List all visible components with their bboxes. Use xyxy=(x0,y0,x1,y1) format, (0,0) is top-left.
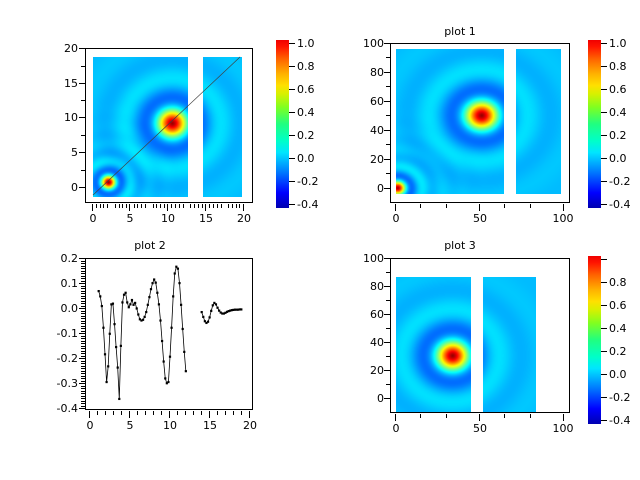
ytick-label: -0.4 xyxy=(40,403,78,414)
xtick-label: 10 xyxy=(157,420,183,431)
ytick-minor xyxy=(81,403,85,404)
cbtick xyxy=(289,66,295,67)
ytick xyxy=(79,358,85,359)
cbtick xyxy=(601,374,607,375)
cbtick-label: 0.2 xyxy=(609,346,627,357)
ytick-minor xyxy=(81,346,85,347)
ytick-minor xyxy=(386,356,390,357)
overlay-diagonal-line xyxy=(86,49,252,202)
xtick xyxy=(129,411,130,418)
data-point-marker xyxy=(120,345,122,347)
data-point-marker xyxy=(113,323,115,325)
ytick-minor xyxy=(81,336,85,337)
xtick-minor xyxy=(420,204,421,208)
cbtick xyxy=(601,181,607,182)
xtick-minor xyxy=(185,411,186,415)
ytick-label: -0.2 xyxy=(40,353,78,364)
xtick-minor xyxy=(119,204,120,208)
cbtick xyxy=(601,43,607,44)
data-point-marker xyxy=(150,288,152,290)
ytick xyxy=(79,187,85,188)
xtick xyxy=(563,204,564,211)
data-point-marker xyxy=(215,303,217,305)
heatmap-canvas xyxy=(396,277,471,413)
cbtick-label: 0.2 xyxy=(297,130,315,141)
ytick-minor xyxy=(81,298,85,299)
cbtick-label: -0.4 xyxy=(297,199,318,210)
data-point-marker xyxy=(144,316,146,318)
cbtick-label: 0.6 xyxy=(297,84,315,95)
ytick xyxy=(79,117,85,118)
xtick-label: 50 xyxy=(463,213,497,224)
ytick-minor xyxy=(81,288,85,289)
xtick xyxy=(129,204,130,211)
cbtick-label: -0.2 xyxy=(609,392,630,403)
xtick-minor xyxy=(126,204,127,208)
xtick-minor xyxy=(217,204,218,208)
ytick-minor xyxy=(81,135,85,136)
ytick-label: 60 xyxy=(346,96,384,107)
heatmap-canvas xyxy=(396,49,504,194)
ytick-minor xyxy=(81,391,85,392)
data-point-marker xyxy=(174,272,176,274)
ytick-minor xyxy=(81,393,85,394)
data-point-marker xyxy=(240,308,242,310)
xtick-minor xyxy=(171,204,172,208)
cbtick-label: -0.4 xyxy=(609,415,630,426)
heatmap-image-a xyxy=(396,49,504,194)
xtick-minor xyxy=(190,204,191,208)
ytick-label: 0.2 xyxy=(40,253,78,264)
ytick-minor xyxy=(81,266,85,267)
ytick-minor xyxy=(386,272,390,273)
ytick-minor xyxy=(386,173,390,174)
xtick-minor xyxy=(175,204,176,208)
xtick xyxy=(243,204,244,211)
ytick xyxy=(384,314,390,315)
ytick xyxy=(79,283,85,284)
ytick-minor xyxy=(81,343,85,344)
data-point-marker xyxy=(112,303,114,305)
ytick-minor xyxy=(81,356,85,357)
axes-bottom-left xyxy=(85,258,253,410)
xtick-label: 5 xyxy=(117,420,143,431)
ytick-minor xyxy=(81,301,85,302)
xtick-minor xyxy=(153,411,154,415)
ytick-label: 0 xyxy=(50,182,78,193)
data-point-marker xyxy=(177,268,179,270)
ytick-minor xyxy=(81,396,85,397)
cbtick xyxy=(601,66,607,67)
xtick xyxy=(479,414,480,421)
xtick-minor xyxy=(217,411,218,415)
xtick-minor xyxy=(97,411,98,415)
xtick xyxy=(167,204,168,211)
xtick-minor xyxy=(194,204,195,208)
cbtick xyxy=(601,305,607,306)
ytick-minor xyxy=(81,323,85,324)
ytick-minor xyxy=(81,381,85,382)
ytick-label: 100 xyxy=(346,253,384,264)
line-series-svg xyxy=(86,259,253,410)
xtick-minor xyxy=(236,204,237,208)
xtick-minor xyxy=(232,204,233,208)
ytick-label: -0.3 xyxy=(40,378,78,389)
xtick-minor xyxy=(241,411,242,415)
colorbar-top-right xyxy=(588,40,601,208)
data-point-marker xyxy=(115,346,117,348)
data-point-marker xyxy=(153,278,155,280)
data-point-marker xyxy=(212,304,214,306)
ytick xyxy=(384,398,390,399)
cbtick xyxy=(601,328,607,329)
cbtick xyxy=(289,43,295,44)
cbtick xyxy=(289,204,295,205)
ytick-minor xyxy=(81,341,85,342)
data-point-marker xyxy=(125,292,127,294)
ytick-minor xyxy=(81,303,85,304)
line-path xyxy=(99,267,186,399)
data-point-marker xyxy=(98,290,100,292)
xtick-minor xyxy=(100,204,101,208)
xtick-minor xyxy=(164,204,165,208)
xtick-label: 100 xyxy=(544,213,582,224)
ytick xyxy=(384,43,390,44)
data-point-marker xyxy=(170,327,172,329)
xtick-label: 100 xyxy=(544,423,582,434)
data-point-marker xyxy=(147,304,149,306)
data-point-marker xyxy=(123,294,125,296)
data-point-marker xyxy=(117,366,119,368)
data-point-marker xyxy=(134,302,136,304)
ytick-label: 0.1 xyxy=(40,278,78,289)
ytick-minor xyxy=(81,286,85,287)
ytick xyxy=(384,72,390,73)
cbtick-label: 0.6 xyxy=(609,300,627,311)
cbtick xyxy=(289,135,295,136)
heatmap-canvas xyxy=(483,277,536,413)
ytick-minor xyxy=(81,378,85,379)
xtick-minor xyxy=(446,204,447,208)
xtick-minor xyxy=(193,411,194,415)
xtick-minor xyxy=(137,411,138,415)
xtick-minor xyxy=(225,411,226,415)
data-point-marker xyxy=(169,356,171,358)
ytick-minor xyxy=(81,376,85,377)
ytick-label: 40 xyxy=(346,125,384,136)
panel-bottom-left: plot 2 0.2 0.1 0.0 -0.1 -0.2 -0.3 -0.4 0 xyxy=(0,240,320,480)
ytick-minor xyxy=(81,296,85,297)
cbtick-label: 0.4 xyxy=(609,107,627,118)
cbtick-label: 0.0 xyxy=(609,369,627,380)
xtick xyxy=(92,204,93,211)
cbtick-label: 0.6 xyxy=(609,84,627,95)
ytick-minor xyxy=(81,368,85,369)
ytick xyxy=(384,130,390,131)
cbtick-label: 0.4 xyxy=(609,323,627,334)
ytick-minor xyxy=(386,57,390,58)
cbtick-label: 0.0 xyxy=(297,153,315,164)
data-point-marker xyxy=(104,353,106,355)
ytick-minor xyxy=(81,311,85,312)
cbtick xyxy=(601,135,607,136)
xtick xyxy=(479,204,480,211)
xtick-label: 0 xyxy=(80,213,106,224)
xtick-minor xyxy=(107,204,108,208)
ytick-minor xyxy=(81,293,85,294)
xtick-minor xyxy=(183,204,184,208)
xtick-minor xyxy=(504,414,505,418)
cbtick xyxy=(601,420,607,421)
data-point-marker xyxy=(178,282,180,284)
ytick-label: 0.0 xyxy=(40,303,78,314)
data-point-marker xyxy=(155,282,157,284)
ytick xyxy=(79,83,85,84)
ytick-minor xyxy=(81,276,85,277)
xtick-label: 20 xyxy=(237,420,263,431)
ytick-minor xyxy=(81,271,85,272)
ytick xyxy=(384,258,390,259)
xtick-minor xyxy=(420,414,421,418)
panel-top-right: plot 1 100 80 60 40 20 0 0 xyxy=(320,0,640,240)
ytick-minor xyxy=(81,353,85,354)
ytick xyxy=(384,188,390,189)
ytick-minor xyxy=(81,373,85,374)
cbtick xyxy=(601,89,607,90)
ytick-label: 15 xyxy=(50,78,78,89)
ytick-label: 20 xyxy=(50,43,78,54)
xtick-minor xyxy=(201,411,202,415)
ytick xyxy=(384,101,390,102)
cbtick-label: -0.2 xyxy=(297,176,318,187)
ytick xyxy=(384,370,390,371)
ytick-minor xyxy=(81,170,85,171)
data-point-marker xyxy=(161,340,163,342)
ytick-minor xyxy=(81,261,85,262)
ytick-minor xyxy=(386,144,390,145)
panel-bottom-right: plot 3 100 80 60 40 20 0 0 xyxy=(320,240,640,480)
ytick-minor xyxy=(81,401,85,402)
ytick-minor xyxy=(81,371,85,372)
data-point-marker xyxy=(209,316,211,318)
data-point-marker xyxy=(164,377,166,379)
ytick-minor xyxy=(81,326,85,327)
xtick-label: 5 xyxy=(117,213,143,224)
ytick-minor xyxy=(81,338,85,339)
ytick-minor xyxy=(386,328,390,329)
ytick-minor xyxy=(81,321,85,322)
data-point-marker xyxy=(185,370,187,372)
cbtick-label: 0.0 xyxy=(609,153,627,164)
ytick-minor xyxy=(81,291,85,292)
cbtick xyxy=(601,204,607,205)
cbtick xyxy=(601,158,607,159)
xtick-label: 10 xyxy=(155,213,181,224)
xtick-minor xyxy=(530,414,531,418)
data-point-marker xyxy=(128,306,130,308)
xtick-label: 0 xyxy=(77,420,103,431)
ytick-label: 20 xyxy=(346,365,384,376)
ytick xyxy=(79,408,85,409)
data-point-marker xyxy=(148,296,150,298)
ytick-minor xyxy=(81,363,85,364)
xtick xyxy=(395,204,396,211)
ytick xyxy=(79,383,85,384)
xtick-minor xyxy=(122,204,123,208)
data-point-marker xyxy=(118,398,120,400)
data-point-marker xyxy=(182,328,184,330)
colorbar-bottom-right xyxy=(588,256,601,424)
ytick-minor xyxy=(386,115,390,116)
axes-top-left xyxy=(85,48,253,203)
data-point-marker xyxy=(99,295,101,297)
ytick-minor xyxy=(81,306,85,307)
xtick-minor xyxy=(141,204,142,208)
xtick-minor xyxy=(137,204,138,208)
xtick xyxy=(89,411,90,418)
ytick xyxy=(79,333,85,334)
axes-top-right xyxy=(390,43,570,203)
ytick xyxy=(384,342,390,343)
cbtick xyxy=(601,397,607,398)
data-point-marker xyxy=(121,301,123,303)
xtick-minor xyxy=(239,204,240,208)
data-point-marker xyxy=(136,307,138,309)
xtick-minor xyxy=(233,411,234,415)
heatmap-image-b xyxy=(516,49,561,194)
ytick xyxy=(79,308,85,309)
ytick-minor xyxy=(386,384,390,385)
ytick-minor xyxy=(81,313,85,314)
cbtick xyxy=(601,112,607,113)
cbtick-label: 1.0 xyxy=(297,38,315,49)
xtick-label: 15 xyxy=(197,420,223,431)
xtick-minor xyxy=(221,204,222,208)
heatmap-image-a xyxy=(396,277,471,413)
cbtick-label: 0.8 xyxy=(609,277,627,288)
ytick-label: 0 xyxy=(346,183,384,194)
data-point-marker xyxy=(159,319,161,321)
ytick-label: 10 xyxy=(50,112,78,123)
xtick-label: 0 xyxy=(383,423,409,434)
ytick-minor xyxy=(81,318,85,319)
ytick-minor xyxy=(81,348,85,349)
xtick-minor xyxy=(228,204,229,208)
data-point-marker xyxy=(107,365,109,367)
colorbar-top-left xyxy=(276,40,289,208)
xtick xyxy=(205,204,206,211)
ytick-label: 60 xyxy=(346,309,384,320)
xtick-minor xyxy=(446,414,447,418)
data-point-marker xyxy=(158,303,160,305)
ytick-minor xyxy=(81,366,85,367)
xtick xyxy=(563,414,564,421)
data-point-marker xyxy=(210,310,212,312)
xtick-label: 20 xyxy=(231,213,257,224)
data-point-marker xyxy=(131,299,133,301)
xtick-minor xyxy=(209,204,210,208)
data-point-marker xyxy=(109,333,111,335)
xtick-minor xyxy=(213,204,214,208)
figure-canvas: 20 15 10 5 0 0 5 10 15 20 xyxy=(0,0,640,480)
xtick-minor xyxy=(179,204,180,208)
ytick-label: 20 xyxy=(346,154,384,165)
data-point-marker xyxy=(172,295,174,297)
ytick-minor xyxy=(81,100,85,101)
ytick-minor xyxy=(386,86,390,87)
ytick-minor xyxy=(81,331,85,332)
ytick-minor xyxy=(81,268,85,269)
cbtick-label: 0.8 xyxy=(609,61,627,72)
data-point-marker xyxy=(218,310,220,312)
data-point-marker xyxy=(145,311,147,313)
xtick-minor xyxy=(202,204,203,208)
cbtick-label: -0.4 xyxy=(609,199,630,210)
panel-bottom-right-title: plot 3 xyxy=(350,240,570,252)
panel-bottom-left-title: plot 2 xyxy=(0,240,300,252)
ytick-label: 80 xyxy=(346,281,384,292)
cbtick xyxy=(289,112,295,113)
cbtick xyxy=(601,351,607,352)
xtick-minor xyxy=(121,411,122,415)
xtick-minor xyxy=(160,204,161,208)
xtick-label: 50 xyxy=(463,423,497,434)
xtick-minor xyxy=(156,204,157,208)
xtick-minor xyxy=(504,204,505,208)
xtick xyxy=(209,411,210,418)
xtick-label: 15 xyxy=(193,213,219,224)
xtick-minor xyxy=(198,204,199,208)
ytick-minor xyxy=(81,361,85,362)
cbtick-label: 0.8 xyxy=(297,61,315,72)
xtick-minor xyxy=(530,204,531,208)
cbtick xyxy=(601,259,607,260)
ytick-minor xyxy=(81,66,85,67)
data-point-marker xyxy=(102,327,104,329)
data-point-marker xyxy=(151,282,153,284)
cbtick-label: 1.0 xyxy=(609,38,627,49)
xtick-minor xyxy=(105,411,106,415)
data-point-marker xyxy=(183,351,185,353)
data-point-marker xyxy=(167,381,169,383)
heatmap-image-b xyxy=(483,277,536,413)
xtick-minor xyxy=(113,411,114,415)
ytick-label: -0.1 xyxy=(40,328,78,339)
data-point-marker xyxy=(106,381,108,383)
panel-top-left: 20 15 10 5 0 0 5 10 15 20 xyxy=(0,0,320,240)
cbtick xyxy=(289,89,295,90)
xtick-minor xyxy=(161,411,162,415)
ytick xyxy=(79,258,85,259)
cbtick xyxy=(601,282,607,283)
ytick-label: 40 xyxy=(346,337,384,348)
cbtick xyxy=(289,181,295,182)
cbtick-label: 0.4 xyxy=(297,107,315,118)
data-point-marker xyxy=(163,360,165,362)
data-point-marker xyxy=(129,303,131,305)
data-point-marker xyxy=(207,321,209,323)
heatmap-canvas xyxy=(516,49,561,194)
xtick-minor xyxy=(96,204,97,208)
data-point-marker xyxy=(201,311,203,313)
ytick-label: 5 xyxy=(50,147,78,158)
cbtick-label: 0.2 xyxy=(609,130,627,141)
ytick-minor xyxy=(81,406,85,407)
ytick-label: 100 xyxy=(346,38,384,49)
data-point-marker xyxy=(156,292,158,294)
ytick xyxy=(384,286,390,287)
ytick-minor xyxy=(81,398,85,399)
